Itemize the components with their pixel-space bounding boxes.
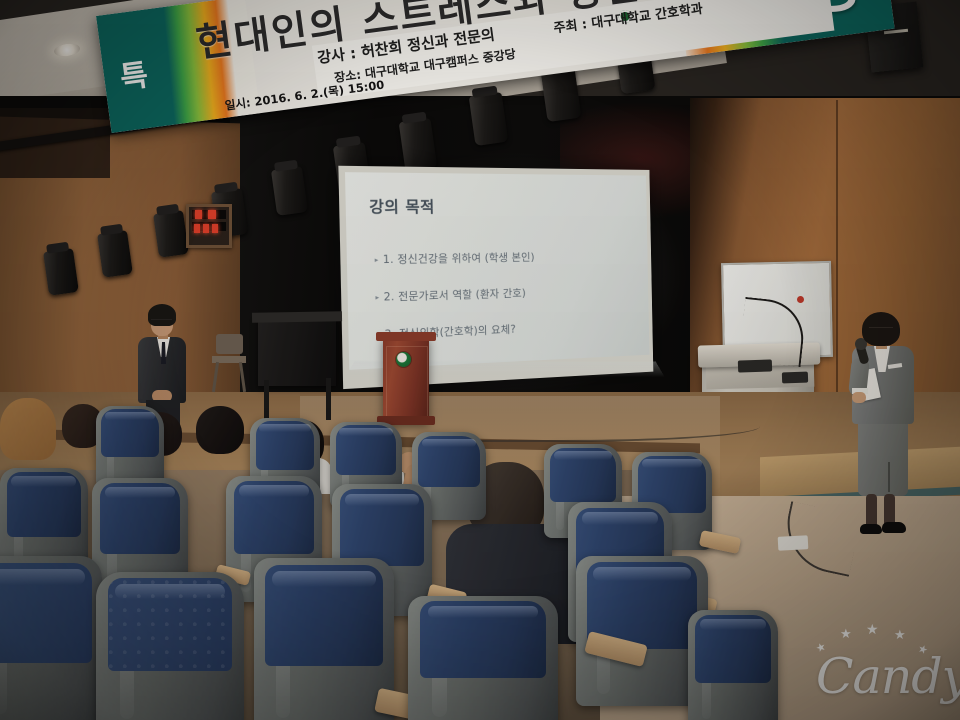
audience-head xyxy=(196,406,244,454)
piano-leg xyxy=(326,378,331,420)
glasses-icon xyxy=(151,319,172,325)
stage-light-icon xyxy=(97,230,133,278)
digital-led-display xyxy=(186,204,232,248)
stage-light-icon xyxy=(43,248,79,296)
auditorium-seat xyxy=(0,556,102,720)
auditorium-seat xyxy=(96,406,164,488)
stage-light-icon xyxy=(153,210,189,258)
stage-light-icon xyxy=(399,118,438,172)
slide-bullet: 2. 전문가로서 역할 (환자 간호) xyxy=(375,285,526,304)
stage-light-icon xyxy=(271,166,308,216)
piano-leg xyxy=(264,380,269,422)
skirt xyxy=(858,420,908,496)
stage-light-icon xyxy=(469,92,509,146)
leg xyxy=(866,494,877,528)
person-host-standing xyxy=(134,304,192,420)
audience-head xyxy=(0,398,56,460)
glasses-icon xyxy=(869,327,893,333)
skirt-slit xyxy=(888,462,890,492)
auditorium-seat xyxy=(408,596,558,720)
piano-lid xyxy=(252,311,342,323)
slide-title: 강의 목적 xyxy=(369,195,435,217)
console-device-slot[interactable] xyxy=(782,372,808,384)
banner-char-left: 특 xyxy=(117,47,168,97)
auditorium-seat xyxy=(254,558,394,720)
lectern-top xyxy=(376,332,436,341)
upright-piano xyxy=(258,316,336,386)
person-mc-with-microphone xyxy=(850,312,920,532)
wall-seam xyxy=(836,100,838,430)
photo-scene: 특 강 현대인의 스트레스와 정신 건강 강사 : 허찬희 정신과 전문의 주최… xyxy=(0,0,960,720)
shoe xyxy=(860,524,882,534)
shoe xyxy=(882,522,906,533)
auditorium-seat xyxy=(96,572,244,720)
chair-leg xyxy=(239,362,246,392)
cable-junction-box xyxy=(778,535,809,551)
chair-back xyxy=(216,334,243,354)
microphone-tip-icon xyxy=(797,296,804,303)
university-emblem-icon xyxy=(396,352,411,367)
folding-chair xyxy=(212,334,246,390)
hand xyxy=(852,392,866,403)
auditorium-seat xyxy=(688,610,778,720)
chair-leg xyxy=(212,362,219,392)
slide-bullet: 1. 정신건강을 위하여 (학생 본인) xyxy=(374,250,534,268)
